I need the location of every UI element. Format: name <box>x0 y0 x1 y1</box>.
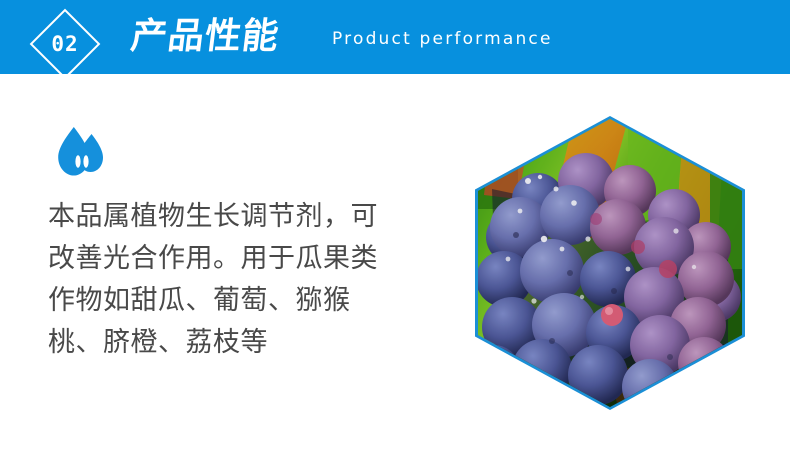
description-line: 作物如甜瓜、葡萄、猕猴 <box>48 280 448 322</box>
section-number: 02 <box>29 8 101 80</box>
water-drop-icon <box>55 124 109 180</box>
product-description: 本品属植物生长调节剂，可 改善光合作用。用于瓜果类 作物如甜瓜、葡萄、猕猴 桃、… <box>48 196 448 364</box>
section-title-english: Product performance <box>332 28 553 50</box>
description-line: 改善光合作用。用于瓜果类 <box>48 238 448 280</box>
section-number-badge: 02 <box>29 8 101 80</box>
description-line: 桃、脐橙、荔枝等 <box>48 322 448 364</box>
description-line: 本品属植物生长调节剂，可 <box>48 196 448 238</box>
hexagon-image-frame <box>475 116 745 410</box>
section-title-chinese: 产品性能 <box>128 14 282 60</box>
grape-cluster-photo <box>478 119 742 407</box>
